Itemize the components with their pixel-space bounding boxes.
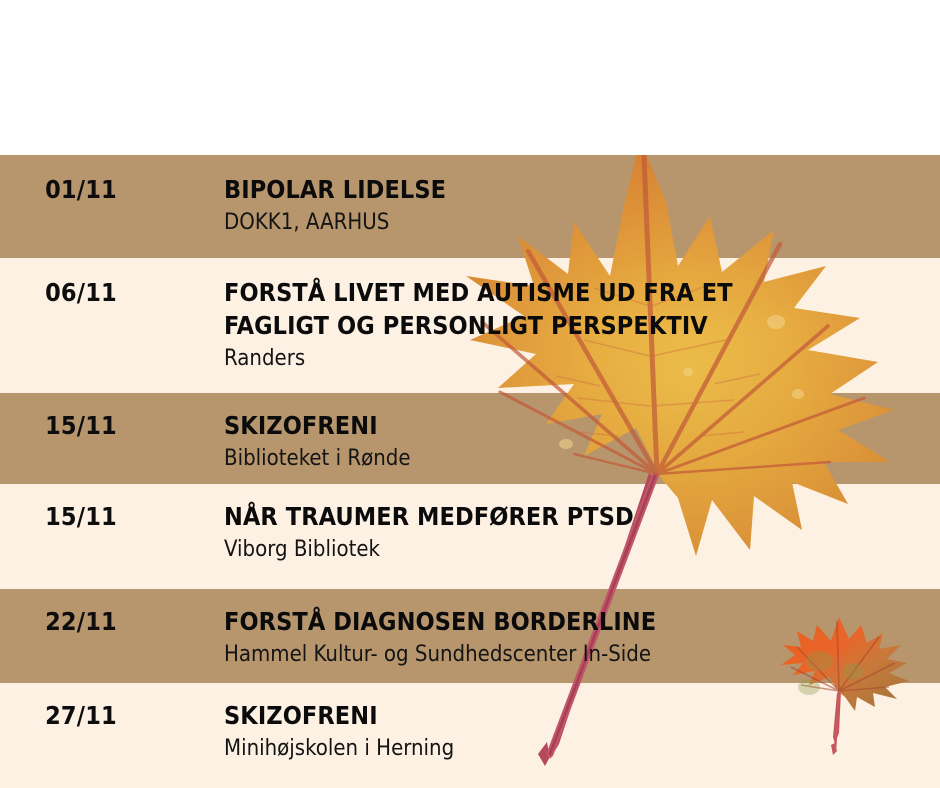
table-row[interactable]: 22/11FORSTÅ DIAGNOSEN BORDERLINEHammel K…: [0, 605, 940, 669]
title-bar: [0, 0, 940, 155]
event-title: SKIZOFRENI: [224, 409, 940, 442]
event-venue: Viborg Bibliotek: [224, 536, 940, 564]
event-venue: Biblioteket i Rønde: [224, 445, 940, 473]
table-row[interactable]: 01/11BIPOLAR LIDELSEDOKK1, AARHUS: [0, 173, 940, 237]
event-body: FORSTÅ DIAGNOSEN BORDERLINEHammel Kultur…: [162, 605, 940, 669]
event-venue: Hammel Kultur- og Sundhedscenter In-Side: [224, 641, 940, 669]
table-row[interactable]: 06/11FORSTÅ LIVET MED AUTISME UD FRA ET …: [0, 276, 940, 373]
event-title: NÅR TRAUMER MEDFØRER PTSD: [224, 500, 940, 533]
event-title: SKIZOFRENI: [224, 699, 940, 732]
poster-canvas: Temaaftener i november 01/11BIPOLAR LIDE…: [0, 0, 940, 788]
event-body: SKIZOFRENIMinihøjskolen i Herning: [162, 699, 940, 763]
event-date: 15/11: [0, 409, 162, 440]
table-row[interactable]: 15/11SKIZOFRENIBiblioteket i Rønde: [0, 409, 940, 473]
event-venue: Minihøjskolen i Herning: [224, 735, 940, 763]
table-row[interactable]: 15/11NÅR TRAUMER MEDFØRER PTSDViborg Bib…: [0, 500, 940, 564]
event-title: FORSTÅ LIVET MED AUTISME UD FRA ET FAGLI…: [224, 276, 940, 342]
event-body: NÅR TRAUMER MEDFØRER PTSDViborg Bibliote…: [162, 500, 940, 564]
table-row[interactable]: 27/11SKIZOFRENIMinihøjskolen i Herning: [0, 699, 940, 763]
event-date: 15/11: [0, 500, 162, 531]
event-date: 27/11: [0, 699, 162, 730]
event-body: BIPOLAR LIDELSEDOKK1, AARHUS: [162, 173, 940, 237]
event-title: FORSTÅ DIAGNOSEN BORDERLINE: [224, 605, 940, 638]
event-venue: Randers: [224, 345, 940, 373]
event-venue: DOKK1, AARHUS: [224, 209, 940, 237]
schedule-list: 01/11BIPOLAR LIDELSEDOKK1, AARHUS06/11FO…: [0, 155, 940, 788]
event-body: FORSTÅ LIVET MED AUTISME UD FRA ET FAGLI…: [162, 276, 940, 373]
event-date: 06/11: [0, 276, 162, 307]
event-body: SKIZOFRENIBiblioteket i Rønde: [162, 409, 940, 473]
event-date: 01/11: [0, 173, 162, 204]
event-date: 22/11: [0, 605, 162, 636]
event-title: BIPOLAR LIDELSE: [224, 173, 940, 206]
